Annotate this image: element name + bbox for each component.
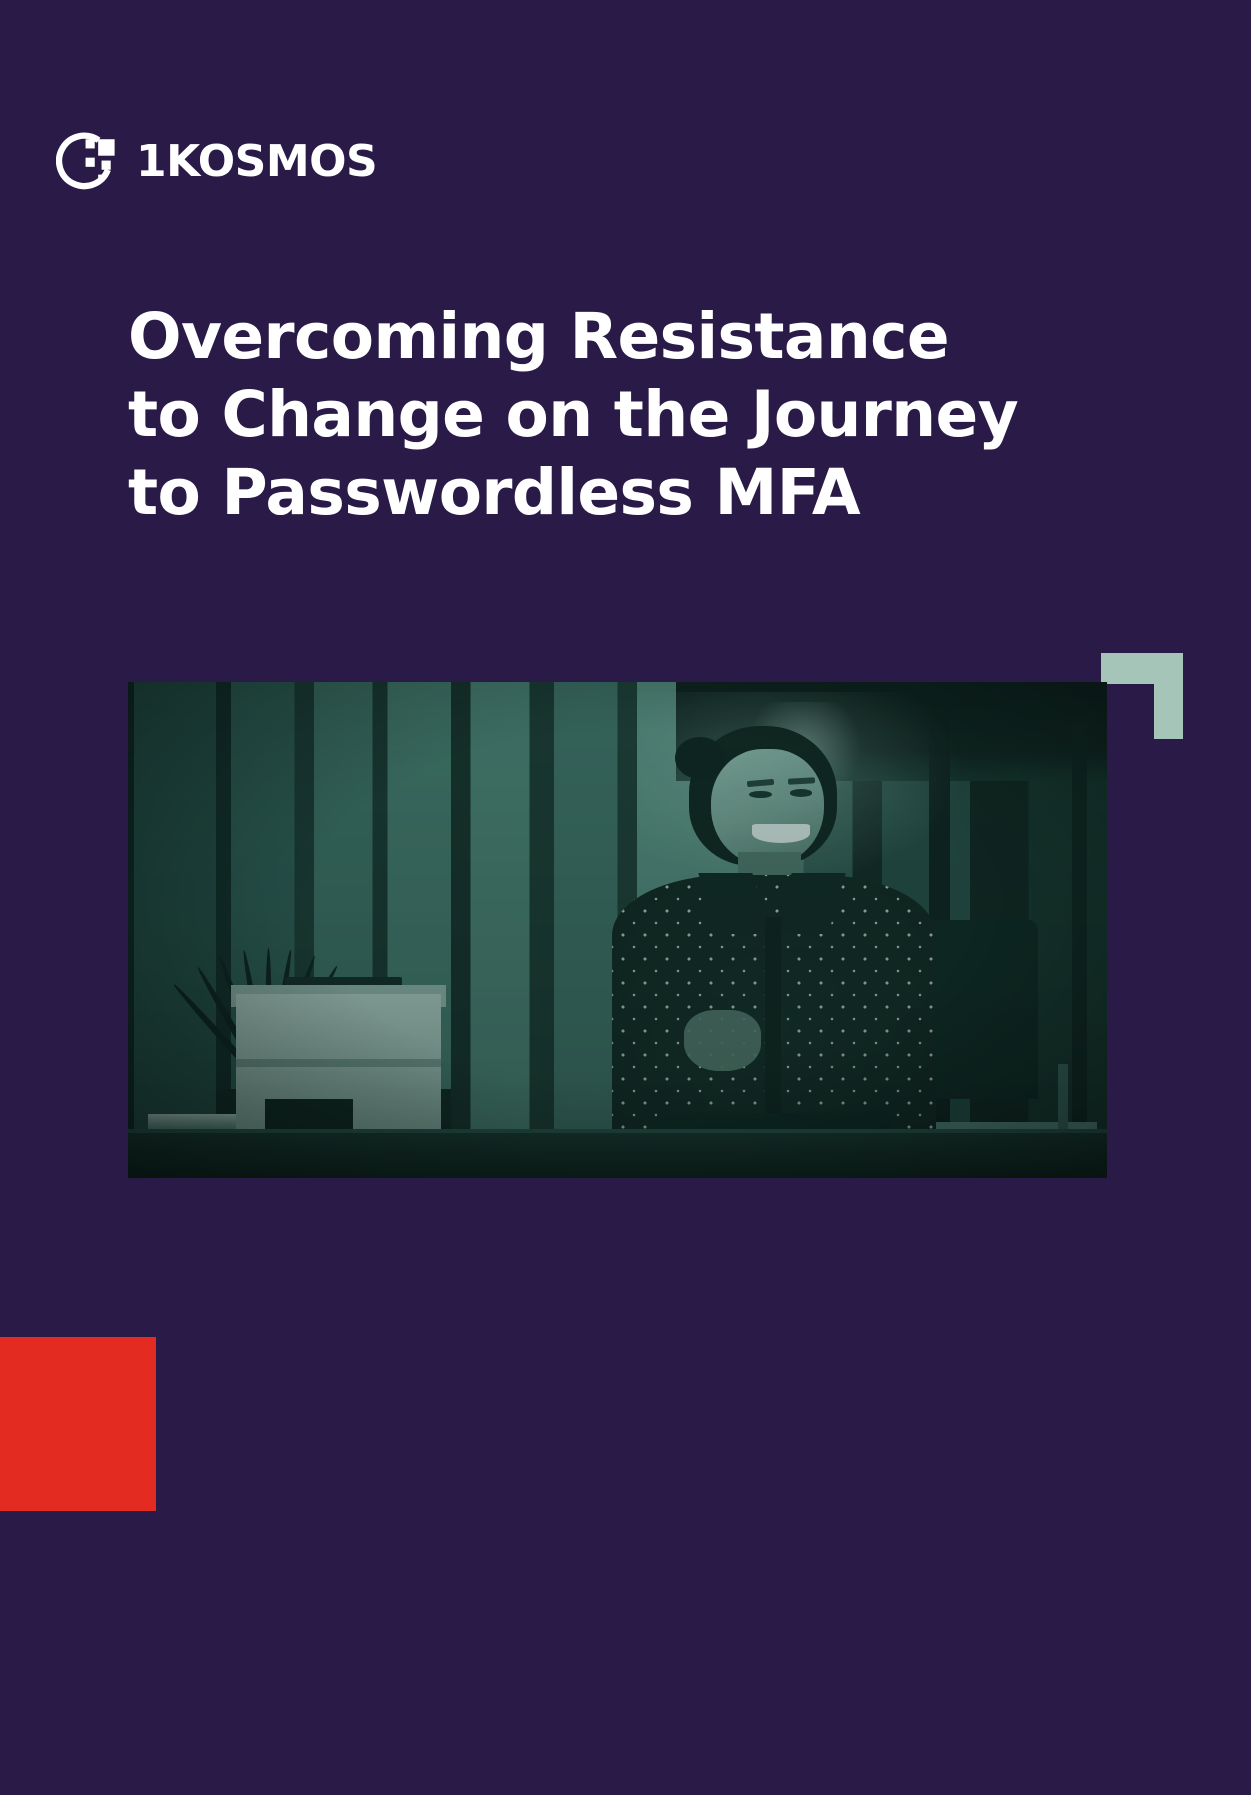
cover-photo: [128, 682, 1107, 1178]
brand-wordmark: 1KOSMOS: [136, 140, 377, 184]
brand-logo[interactable]: 1KOSMOS: [56, 129, 377, 195]
cover-title-line-2: to Change on the Journey: [128, 376, 1078, 454]
cover-title: Overcoming Resistance to Change on the J…: [128, 298, 1078, 532]
cover-page: 1KOSMOS Overcoming Resistance to Change …: [0, 0, 1251, 1795]
photo-vignette: [128, 682, 1107, 1178]
corner-bracket-vertical-bar: [1154, 653, 1183, 739]
1kosmos-circle-pixel-mark-icon: [56, 131, 118, 193]
cover-title-line-3: to Passwordless MFA: [128, 454, 1078, 532]
red-accent-block: [0, 1337, 156, 1511]
cover-title-line-1: Overcoming Resistance: [128, 298, 1078, 376]
photo-scene: [128, 682, 1107, 1178]
teal-corner-bracket: [1101, 653, 1183, 739]
